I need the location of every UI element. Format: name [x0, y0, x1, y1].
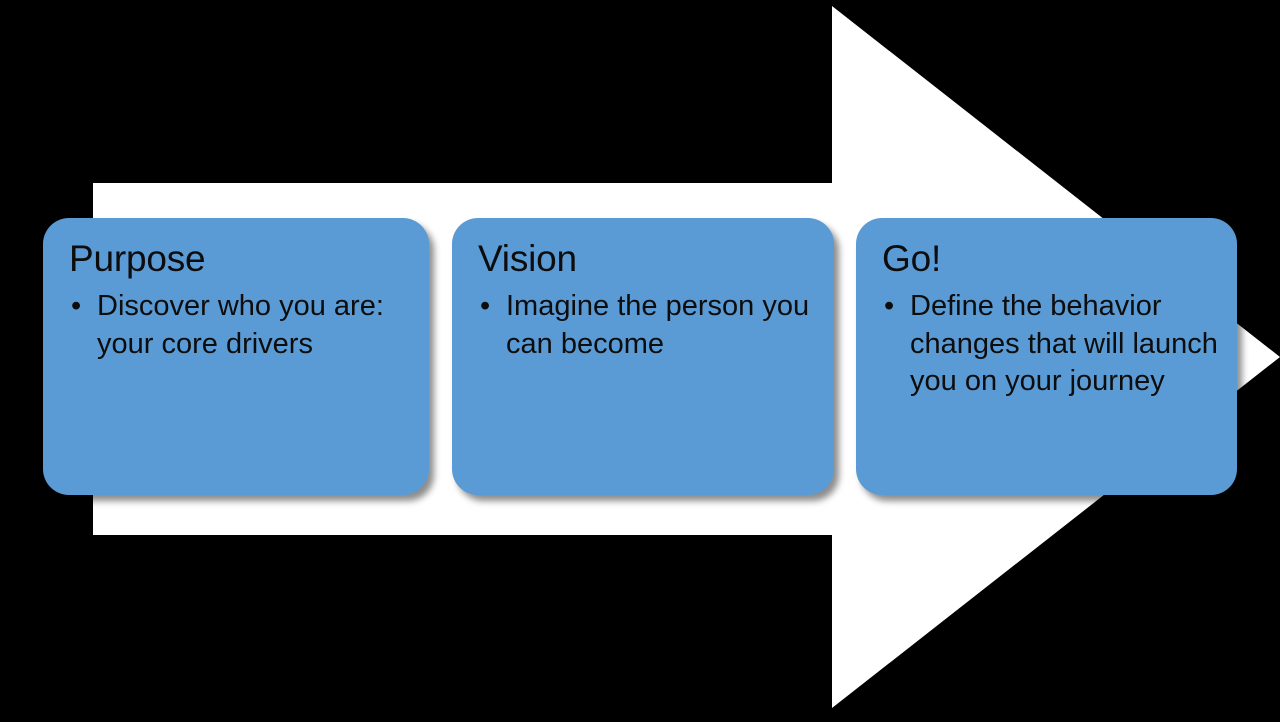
step-bullet-text: Discover who you are: your core drivers	[97, 290, 384, 360]
step-bullet-text: Define the behavior changes that will la…	[910, 290, 1218, 397]
step-bullet-item: • Imagine the person you can become	[478, 288, 816, 363]
step-title: Go!	[882, 240, 1219, 279]
bullet-dot-icon: •	[71, 288, 81, 326]
diagram-canvas: Purpose • Discover who you are: your cor…	[0, 0, 1280, 722]
step-bullet-item: • Define the behavior changes that will …	[882, 288, 1219, 401]
step-card-purpose[interactable]: Purpose • Discover who you are: your cor…	[43, 218, 429, 495]
step-bullet-list: • Define the behavior changes that will …	[882, 288, 1219, 401]
step-card-go[interactable]: Go! • Define the behavior changes that w…	[856, 218, 1237, 495]
step-bullet-list: • Discover who you are: your core driver…	[69, 288, 411, 363]
step-card-vision[interactable]: Vision • Imagine the person you can beco…	[452, 218, 834, 495]
step-bullet-item: • Discover who you are: your core driver…	[69, 288, 411, 363]
step-title: Purpose	[69, 240, 411, 279]
step-title: Vision	[478, 240, 816, 279]
bullet-dot-icon: •	[480, 288, 490, 326]
bullet-dot-icon: •	[884, 288, 894, 326]
step-bullet-list: • Imagine the person you can become	[478, 288, 816, 363]
step-bullet-text: Imagine the person you can become	[506, 290, 809, 360]
